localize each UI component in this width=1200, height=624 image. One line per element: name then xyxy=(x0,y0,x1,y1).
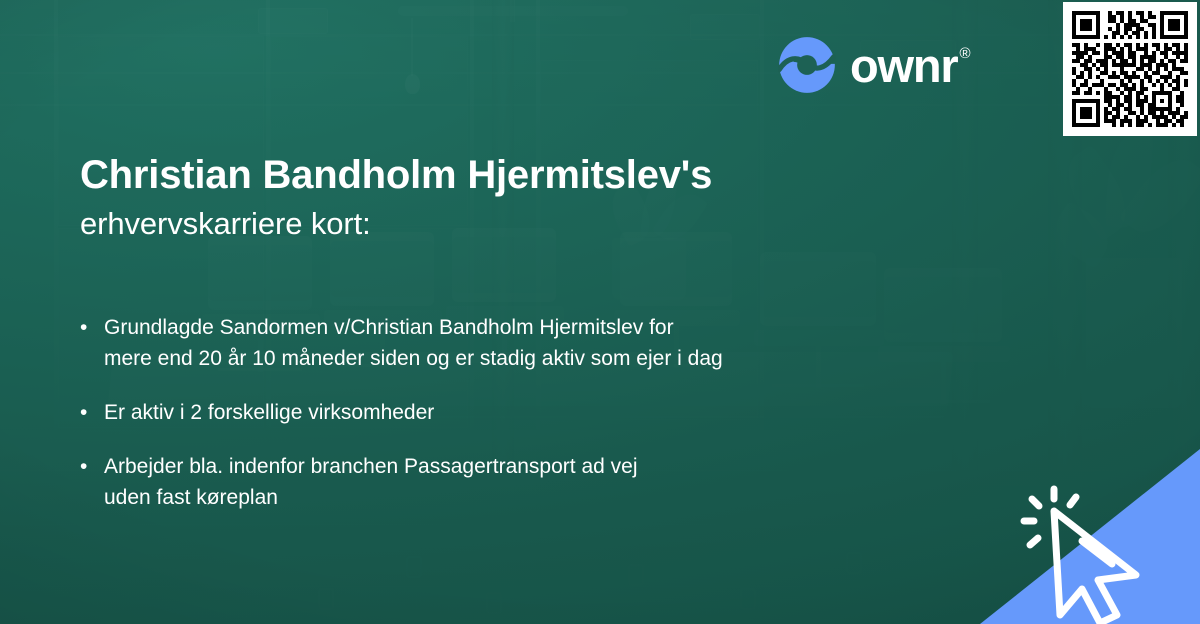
list-item-line-1: Er aktiv i 2 forskellige virksomheder xyxy=(104,401,434,424)
registered-trademark-symbol: ® xyxy=(959,46,969,61)
qr-code-icon xyxy=(1072,11,1188,127)
qr-code[interactable] xyxy=(1063,2,1197,136)
list-item-line-2: mere end 20 år 10 måneder siden og er st… xyxy=(104,347,723,370)
bullet-marker: • xyxy=(80,312,104,374)
ownr-logo[interactable]: ownr ® xyxy=(778,36,969,94)
ownr-circle-mark-icon xyxy=(778,36,836,94)
list-item-text: Arbejder bla. indenfor branchen Passager… xyxy=(104,451,1010,513)
list-item: • Grundlagde Sandormen v/Christian Bandh… xyxy=(80,312,1010,374)
list-item: • Arbejder bla. indenfor branchen Passag… xyxy=(80,451,1010,513)
title-line-2: erhvervskarriere kort: xyxy=(80,203,1010,245)
bullet-marker: • xyxy=(80,451,104,513)
list-item-text: Grundlagde Sandormen v/Christian Bandhol… xyxy=(104,312,1010,374)
list-item-line-2: uden fast køreplan xyxy=(104,486,278,509)
list-item-line-1: Arbejder bla. indenfor branchen Passager… xyxy=(104,455,638,478)
list-item-line-1: Grundlagde Sandormen v/Christian Bandhol… xyxy=(104,316,674,339)
page-title: Christian Bandholm Hjermitslev's erhverv… xyxy=(80,152,1010,245)
title-line-1: Christian Bandholm Hjermitslev's xyxy=(80,152,1010,199)
bullet-marker: • xyxy=(80,397,104,428)
career-card: ownr ® xyxy=(0,0,1200,624)
career-facts-list: • Grundlagde Sandormen v/Christian Bandh… xyxy=(80,312,1010,536)
logo-word-text: ownr xyxy=(850,42,957,89)
ownr-wordmark: ownr ® xyxy=(850,42,969,89)
list-item: • Er aktiv i 2 forskellige virksomheder xyxy=(80,397,1010,428)
list-item-text: Er aktiv i 2 forskellige virksomheder xyxy=(104,397,1010,428)
